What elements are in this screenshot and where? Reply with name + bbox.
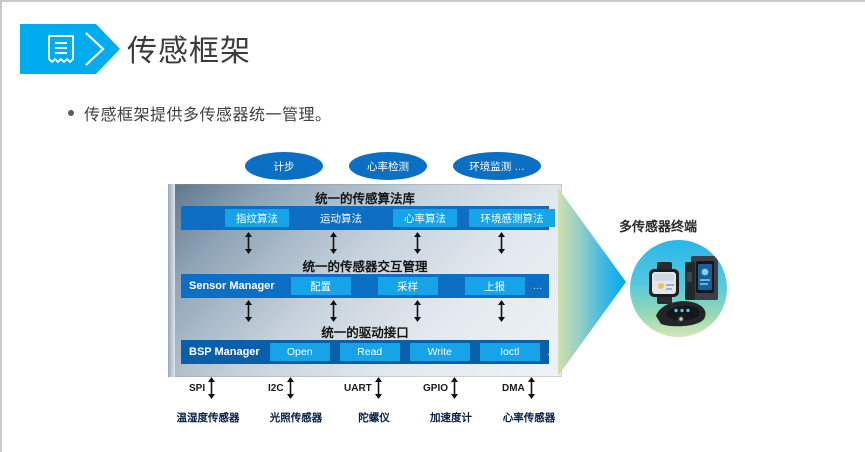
bullet-dot-icon (68, 110, 74, 116)
double-arrow-icon (527, 377, 536, 399)
bus-label: GPIO (423, 383, 448, 394)
bsp-chip-ioctl[interactable]: Ioctl (480, 343, 540, 361)
device-photo-circle (630, 240, 727, 337)
algo-chip-environment[interactable]: 环境感测算法 (469, 209, 555, 227)
sensor-name-temp-humidity: 温湿度传感器 (177, 410, 240, 425)
layer-title-algorithm: 统一的传感算法库 (168, 188, 562, 207)
terminal-label: 多传感器终端 (619, 216, 697, 235)
bus-label: UART (344, 383, 372, 394)
double-arrow-icon (207, 377, 216, 399)
sensor-stack-panel: 统一的传感算法库 指纹算法 运动算法 心率算法 环境感测算法 … 统一的传感器交… (168, 184, 562, 377)
sm-chip-report[interactable]: 上报 (465, 277, 525, 295)
bus-item-spi: SPI (189, 377, 216, 399)
layer-bar-sensor-manager: Sensor Manager 配置 采样 上报 … (181, 274, 549, 298)
double-arrow-icon (286, 377, 295, 399)
layer-bar-bsp-manager: BSP Manager Open Read Write Ioctl … (181, 340, 549, 364)
page-title: 传感框架 (127, 26, 251, 70)
connector-row-2 (181, 300, 549, 322)
sm-more-dots: … (533, 281, 543, 292)
double-arrow-icon (413, 300, 422, 322)
bus-row: SPI I2C UART GPIO DMA (168, 377, 562, 401)
document-lines-icon (46, 34, 76, 65)
bus-item-i2c: I2C (268, 377, 295, 399)
double-arrow-icon (497, 300, 506, 322)
fitness-band-icon (652, 298, 710, 328)
double-arrow-icon (413, 232, 422, 254)
bus-item-gpio: GPIO (423, 377, 459, 399)
layer-title-driver: 统一的驱动接口 (168, 322, 562, 341)
slide-canvas: 传感框架 传感框架提供多传感器统一管理。 计步 心率检测 环境监测 … 统一的传… (0, 0, 865, 452)
double-arrow-icon (374, 377, 383, 399)
double-arrow-icon (497, 232, 506, 254)
bsp-chip-read[interactable]: Read (340, 343, 400, 361)
bsp-chip-open[interactable]: Open (270, 343, 330, 361)
sensor-manager-label: Sensor Manager (181, 280, 275, 292)
algo-chip-motion[interactable]: 运动算法 (309, 209, 373, 227)
algo-chip-fingerprint[interactable]: 指纹算法 (225, 209, 289, 227)
layer-title-manager: 统一的传感器交互管理 (168, 256, 562, 275)
layer-bar-algorithm: 指纹算法 运动算法 心率算法 环境感测算法 … (181, 206, 549, 230)
use-case-pill[interactable]: 计步 (245, 152, 323, 180)
sm-chip-config[interactable]: 配置 (291, 277, 351, 295)
bsp-more-dots: … (547, 347, 557, 358)
sensor-name-heartrate: 心率传感器 (503, 410, 556, 425)
header-banner (20, 24, 120, 74)
algo-chip-heartrate[interactable]: 心率算法 (393, 209, 457, 227)
sensor-name-accelerometer: 加速度计 (430, 410, 472, 425)
use-case-pill[interactable]: 心率检测 (349, 152, 427, 180)
right-arrow-gradient (558, 188, 626, 376)
bullet-text: 传感框架提供多传感器统一管理。 (84, 101, 332, 125)
sensor-name-light: 光照传感器 (270, 410, 323, 425)
sensor-name-gyroscope: 陀螺仪 (358, 410, 390, 425)
bus-item-dma: DMA (502, 377, 536, 399)
chevron-right-icon (80, 30, 118, 68)
double-arrow-icon (329, 232, 338, 254)
bus-label: DMA (502, 383, 525, 394)
double-arrow-icon (450, 377, 459, 399)
bus-label: I2C (268, 383, 284, 394)
double-arrow-icon (244, 300, 253, 322)
use-case-pill[interactable]: 环境监测 … (453, 152, 541, 180)
sm-chip-sampling[interactable]: 采样 (378, 277, 438, 295)
bullet-list-item: 传感框架提供多传感器统一管理。 (68, 101, 332, 125)
bsp-chip-write[interactable]: Write (410, 343, 470, 361)
double-arrow-icon (329, 300, 338, 322)
connector-row-1 (181, 232, 549, 254)
double-arrow-icon (244, 232, 253, 254)
smartphone-icon (685, 256, 718, 302)
bus-item-uart: UART (344, 377, 383, 399)
bsp-manager-label: BSP Manager (181, 346, 260, 358)
use-case-row: 计步 心率检测 环境监测 … (245, 152, 541, 180)
bus-label: SPI (189, 383, 205, 394)
